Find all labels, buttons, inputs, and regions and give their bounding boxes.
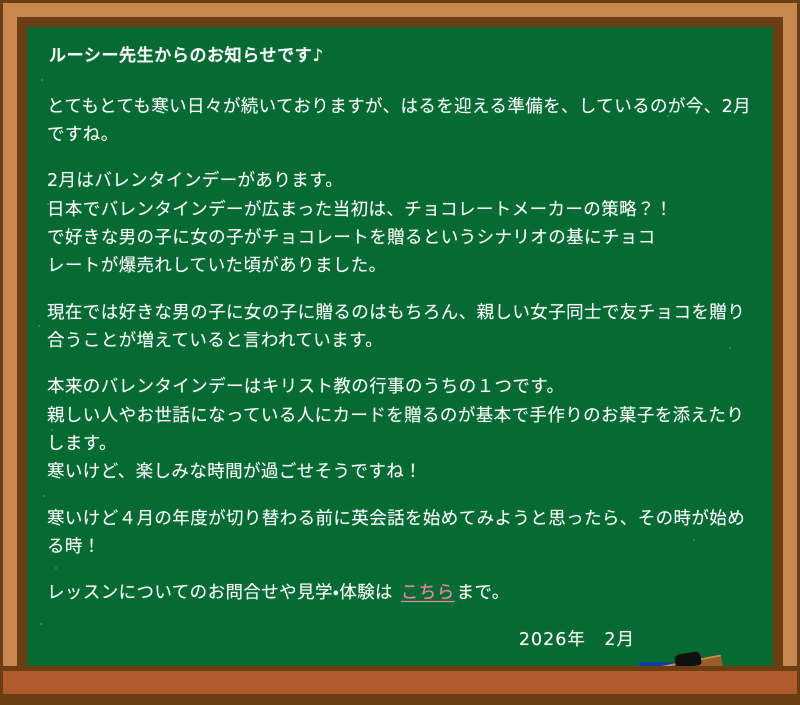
tray-face [3, 671, 797, 694]
paragraph-intro: とてもとても寒い日々が続いておりますが、はるを迎える準備を、しているのが今、2月… [47, 93, 755, 150]
spacer [45, 285, 755, 299]
spacer [45, 153, 755, 167]
chalkboard-wooden-frame: ルーシー先生からのお知らせです♪ とてもとても寒い日々が続いておりますが、はるを… [0, 0, 800, 705]
frame-light-wood-layer: ルーシー先生からのお知らせです♪ とてもとても寒い日々が続いておりますが、はるを… [3, 3, 797, 702]
chalkboard-surface: ルーシー先生からのお知らせです♪ とてもとても寒い日々が続いておりますが、はるを… [27, 27, 773, 692]
paragraph-tomo-choco: 現在では好きな男の子に女の子に贈るのはもちろん、親しい女子同士で友チョコを贈り合… [47, 299, 755, 356]
contact-suffix-text: まで。 [457, 583, 510, 603]
contact-line: レッスンについてのお問合せや見学・体験は こちらまで。 [47, 579, 755, 607]
paragraph-christian-origin: 本来のバレンタインデーはキリスト教の行事のうちの１つです。 親しい人やお世話にな… [47, 373, 755, 486]
tray-bottom-edge [3, 694, 797, 702]
notice-content: ルーシー先生からのお知らせです♪ とてもとても寒い日々が続いておりますが、はるを… [45, 43, 755, 654]
spacer [45, 565, 755, 579]
contact-here-link[interactable]: こちら [399, 583, 457, 603]
paragraph-valentine-history: 2月はバレンタインデーがあります。 日本でバレンタインデーが広まった当初は、チョ… [47, 167, 755, 280]
notice-date: 2026年 2月 [45, 626, 635, 654]
frame-inner-bevel: ルーシー先生からのお知らせです♪ とてもとても寒い日々が続いておりますが、はるを… [17, 17, 783, 702]
chalk-tray [3, 666, 797, 702]
spacer [45, 359, 755, 373]
paragraph-start-english: 寒いけど４月の年度が切り替わる前に英会話を始めてみようと思ったら、その時が始める… [47, 505, 755, 562]
spacer [45, 77, 755, 93]
contact-prefix-text: レッスンについてのお問合せや見学・体験は [47, 583, 399, 603]
notice-title: ルーシー先生からのお知らせです♪ [49, 43, 755, 71]
spacer [45, 491, 755, 505]
